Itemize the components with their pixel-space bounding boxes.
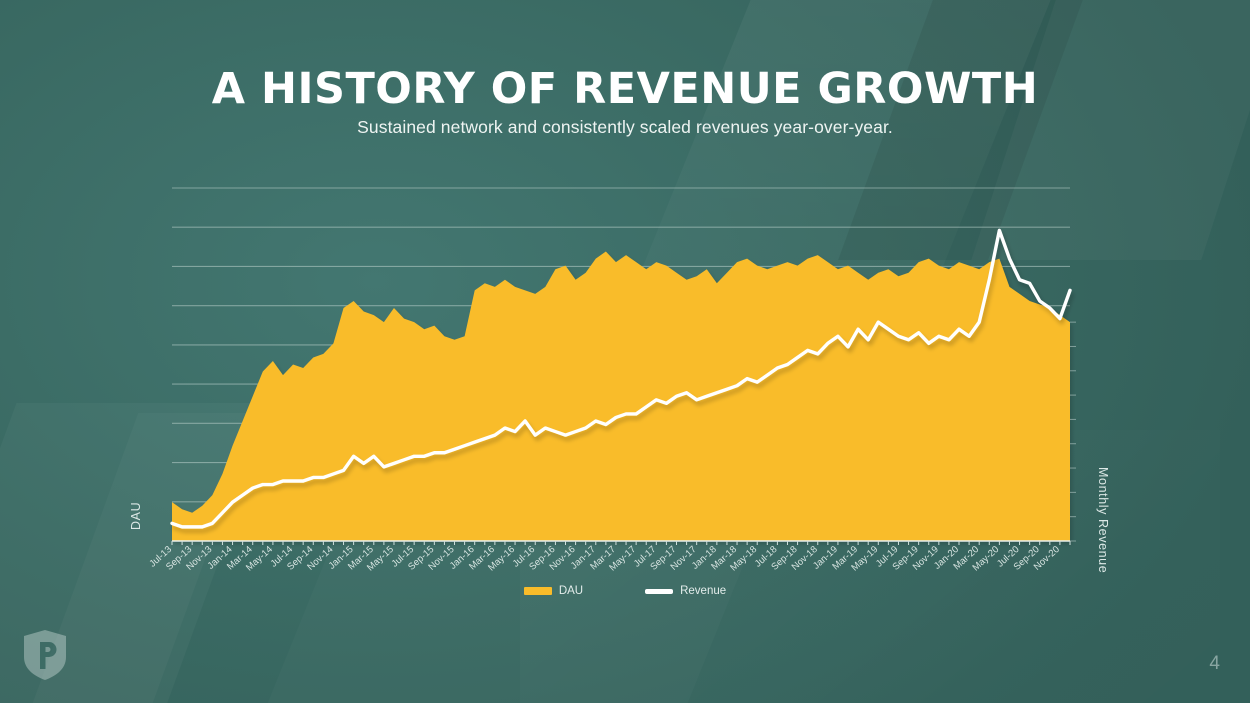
page-subtitle: Sustained network and consistently scale…	[0, 117, 1250, 138]
legend-label-revenue: Revenue	[680, 585, 726, 597]
legend-item-revenue[interactable]: Revenue	[645, 585, 726, 597]
y-axis-right-title: Monthly Revenue	[1096, 467, 1110, 573]
legend-label-dau: DAU	[559, 585, 583, 597]
legend-item-dau[interactable]: DAU	[524, 585, 583, 597]
revenue-dau-chart: Jul-13Sep-13Nov-13Jan-14Mar-14May-14Jul-…	[0, 160, 1250, 610]
page-title: A HISTORY OF REVENUE GROWTH	[0, 64, 1250, 114]
revenue-swatch-icon	[645, 589, 673, 594]
chart-svg: Jul-13Sep-13Nov-13Jan-14Mar-14May-14Jul-…	[0, 160, 1250, 610]
dau-area-series	[172, 252, 1070, 541]
y-axis-left-title: DAU	[129, 502, 143, 530]
page-number: 4	[1209, 653, 1220, 675]
slide-canvas: A HISTORY OF REVENUE GROWTH Sustained ne…	[0, 0, 1250, 703]
chart-x-tick-labels: Jul-13Sep-13Nov-13Jan-14Mar-14May-14Jul-…	[147, 544, 1061, 573]
chart-legend: DAU Revenue	[0, 585, 1250, 597]
dau-swatch-icon	[524, 587, 552, 595]
shield-p-logo	[22, 629, 68, 681]
